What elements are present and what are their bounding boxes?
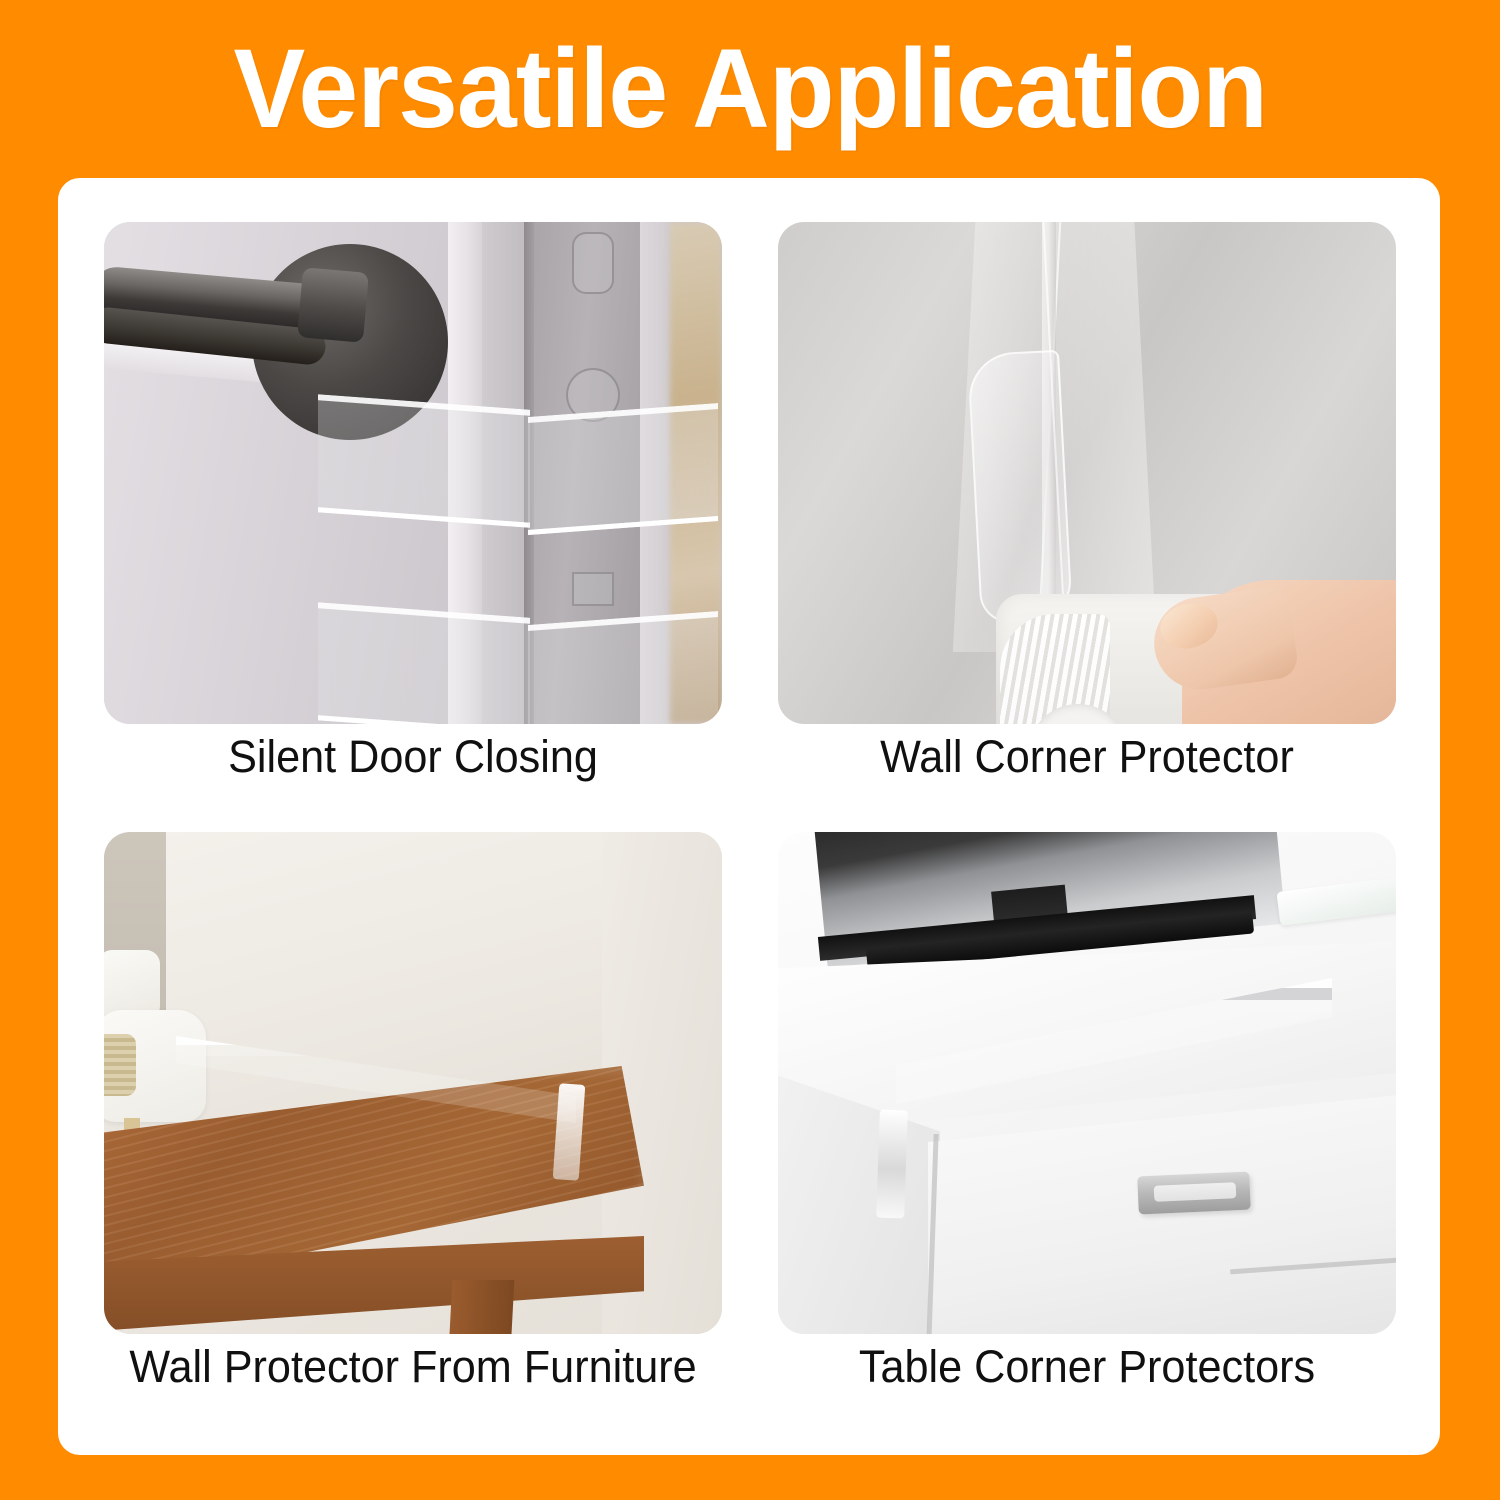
door-strike-square [572, 572, 614, 606]
photo-table-corner-protectors [778, 832, 1396, 1334]
photo-wall-protector-from-furniture [104, 832, 722, 1334]
clear-edge-strip-corner [876, 1110, 908, 1219]
tape-peel-flap [967, 350, 1073, 624]
panel-table-corner-protectors[interactable]: Table Corner Protectors [778, 832, 1396, 1377]
corner-guard-strip [318, 394, 530, 528]
door-latch-slot [572, 232, 614, 294]
photo-silent-door-closing [104, 222, 722, 724]
table-leg [448, 1280, 515, 1334]
content-card: Silent Door Closing Wall Corner [58, 178, 1440, 1455]
panel-grid: Silent Door Closing Wall Corner [58, 178, 1440, 1455]
panel-wall-corner-protector[interactable]: Wall Corner Protector [778, 222, 1396, 767]
door-handle-tip [297, 267, 369, 342]
page-title: Versatile Application [233, 33, 1266, 145]
panel-caption: Wall Protector From Furniture [116, 1340, 709, 1394]
photo-wall-corner-protector [778, 222, 1396, 724]
panel-caption: Table Corner Protectors [790, 1340, 1383, 1394]
header-banner: Versatile Application [0, 0, 1500, 178]
corner-guard-strip [528, 403, 718, 535]
corner-guard-strip [318, 602, 530, 724]
remote-control [1276, 876, 1396, 926]
panel-silent-door-closing[interactable]: Silent Door Closing [104, 222, 722, 767]
corner-guard-strip [528, 611, 718, 724]
humidifier-vent [104, 1034, 136, 1096]
panel-wall-protector-from-furniture[interactable]: Wall Protector From Furniture [104, 832, 722, 1377]
panel-caption: Wall Corner Protector [790, 730, 1383, 784]
panel-caption: Silent Door Closing [116, 730, 709, 784]
product-infographic: Versatile Application [0, 0, 1500, 1500]
